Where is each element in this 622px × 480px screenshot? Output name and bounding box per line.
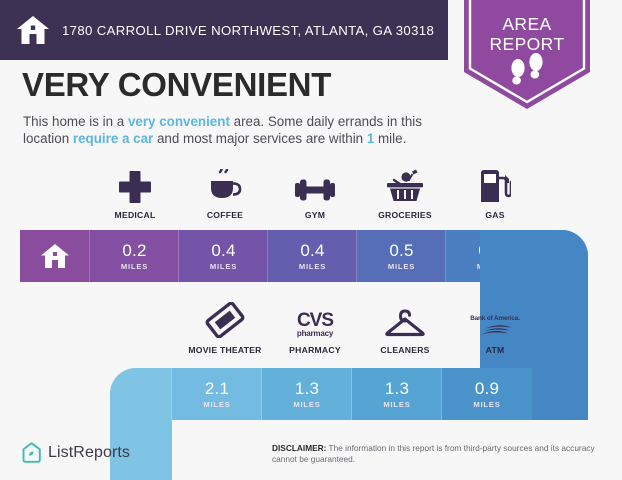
bar-cell-coffee: 0.4 MILES xyxy=(179,230,268,282)
bar-cell-groceries: 0.5 MILES xyxy=(357,230,446,282)
distance-value: 0.4 xyxy=(211,242,235,260)
boa-wordmark: Bank of America. xyxy=(470,315,520,323)
category-groceries: GROCERIES xyxy=(360,165,450,220)
cvs-wordmark: CVS xyxy=(297,313,333,329)
home-icon xyxy=(40,243,70,269)
category-atm: Bank of America. ATM xyxy=(450,300,540,355)
listreports-house-icon xyxy=(22,442,41,463)
distance-value: 1.3 xyxy=(295,380,319,398)
category-icon-row-primary: MEDICAL COFFEE xyxy=(90,165,540,220)
cvs-subtitle: pharmacy xyxy=(297,329,333,338)
distance-value: 2.1 xyxy=(205,380,229,398)
cvs-pharmacy-logo: CVS pharmacy xyxy=(297,300,333,338)
distance-value: 1.3 xyxy=(385,380,409,398)
distance-unit: MILES xyxy=(203,400,230,409)
gas-pump-icon xyxy=(479,165,511,203)
disclaimer-label: DISCLAIMER: xyxy=(272,443,326,453)
bar-cell-cleaners: 1.3 MILES xyxy=(352,368,442,420)
distance-unit: MILES xyxy=(383,400,410,409)
boa-flag-icon xyxy=(478,323,512,338)
desc-part1: This home is in a xyxy=(23,114,128,129)
disclaimer-text: DISCLAIMER: The information in this repo… xyxy=(272,443,602,465)
medical-cross-icon xyxy=(119,165,151,203)
desc-part3: and most major services are within xyxy=(153,131,367,146)
category-label: GAS xyxy=(485,210,504,220)
distance-unit: MILES xyxy=(388,262,415,271)
bar-cell-gym: 0.4 MILES xyxy=(268,230,357,282)
distance-value: 0.2 xyxy=(122,242,146,260)
area-report-badge: AREA REPORT xyxy=(464,0,590,110)
bank-of-america-logo: Bank of America. xyxy=(470,300,520,338)
distance-value: 0.4 xyxy=(300,242,324,260)
category-gym: GYM xyxy=(270,165,360,220)
clothes-hanger-icon xyxy=(384,300,426,338)
category-gas: GAS xyxy=(450,165,540,220)
header-address: 1780 CARROLL DRIVE NORTHWEST, ATLANTA, G… xyxy=(62,23,434,38)
distance-unit: MILES xyxy=(293,400,320,409)
category-label: COFFEE xyxy=(207,210,243,220)
distance-unit: MILES xyxy=(299,262,326,271)
page-title: VERY CONVENIENT xyxy=(22,66,331,104)
category-coffee: COFFEE xyxy=(180,165,270,220)
category-label: CLEANERS xyxy=(380,345,429,355)
bar-cell-medical: 0.2 MILES xyxy=(90,230,179,282)
grocery-basket-icon xyxy=(386,165,424,203)
distance-value: 0.5 xyxy=(389,242,413,260)
category-label: MEDICAL xyxy=(115,210,156,220)
header-bar: 1780 CARROLL DRIVE NORTHWEST, ATLANTA, G… xyxy=(0,0,448,60)
desc-highlight-1: very convenient xyxy=(128,114,230,129)
page-description: This home is in a very convenient area. … xyxy=(23,113,453,147)
distance-bar-secondary: 2.1 MILES 1.3 MILES 1.3 MILES 0.9 MILES xyxy=(110,368,588,420)
badge-line1: AREA xyxy=(464,14,590,34)
bar-cell-lead xyxy=(110,368,172,420)
listreports-brand[interactable]: ListReports xyxy=(22,442,130,463)
badge-text: AREA REPORT xyxy=(464,14,590,54)
distance-unit: MILES xyxy=(210,262,237,271)
category-label: ATM xyxy=(486,345,505,355)
bar-home-marker xyxy=(20,230,90,282)
category-label: PHARMACY xyxy=(289,345,341,355)
category-label: MOVIE THEATER xyxy=(188,345,261,355)
distance-unit: MILES xyxy=(121,262,148,271)
listreports-wordmark: ListReports xyxy=(48,444,130,462)
category-movie-theater: MOVIE THEATER xyxy=(180,300,270,355)
category-icon-row-secondary: MOVIE THEATER CVS pharmacy PHARMACY CLEA… xyxy=(180,300,540,355)
coffee-cup-icon xyxy=(207,165,243,203)
bar-cell-pharmacy: 1.3 MILES xyxy=(262,368,352,420)
home-icon xyxy=(16,15,50,45)
movie-ticket-icon xyxy=(205,300,245,338)
distance-value: 0.9 xyxy=(475,380,499,398)
bar-cell-movie-theater: 2.1 MILES xyxy=(172,368,262,420)
category-medical: MEDICAL xyxy=(90,165,180,220)
desc-highlight-2: require a car xyxy=(73,131,153,146)
category-label: GYM xyxy=(305,210,325,220)
category-label: GROCERIES xyxy=(378,210,432,220)
category-cleaners: CLEANERS xyxy=(360,300,450,355)
dumbbell-icon xyxy=(295,165,335,203)
bar-cell-tail xyxy=(532,368,588,420)
category-pharmacy: CVS pharmacy PHARMACY xyxy=(270,300,360,355)
distance-unit: MILES xyxy=(473,400,500,409)
bar-cell-atm: 0.9 MILES xyxy=(442,368,532,420)
badge-line2: REPORT xyxy=(464,34,590,54)
desc-part4: mile. xyxy=(374,131,406,146)
area-report-page: 1780 CARROLL DRIVE NORTHWEST, ATLANTA, G… xyxy=(0,0,622,480)
